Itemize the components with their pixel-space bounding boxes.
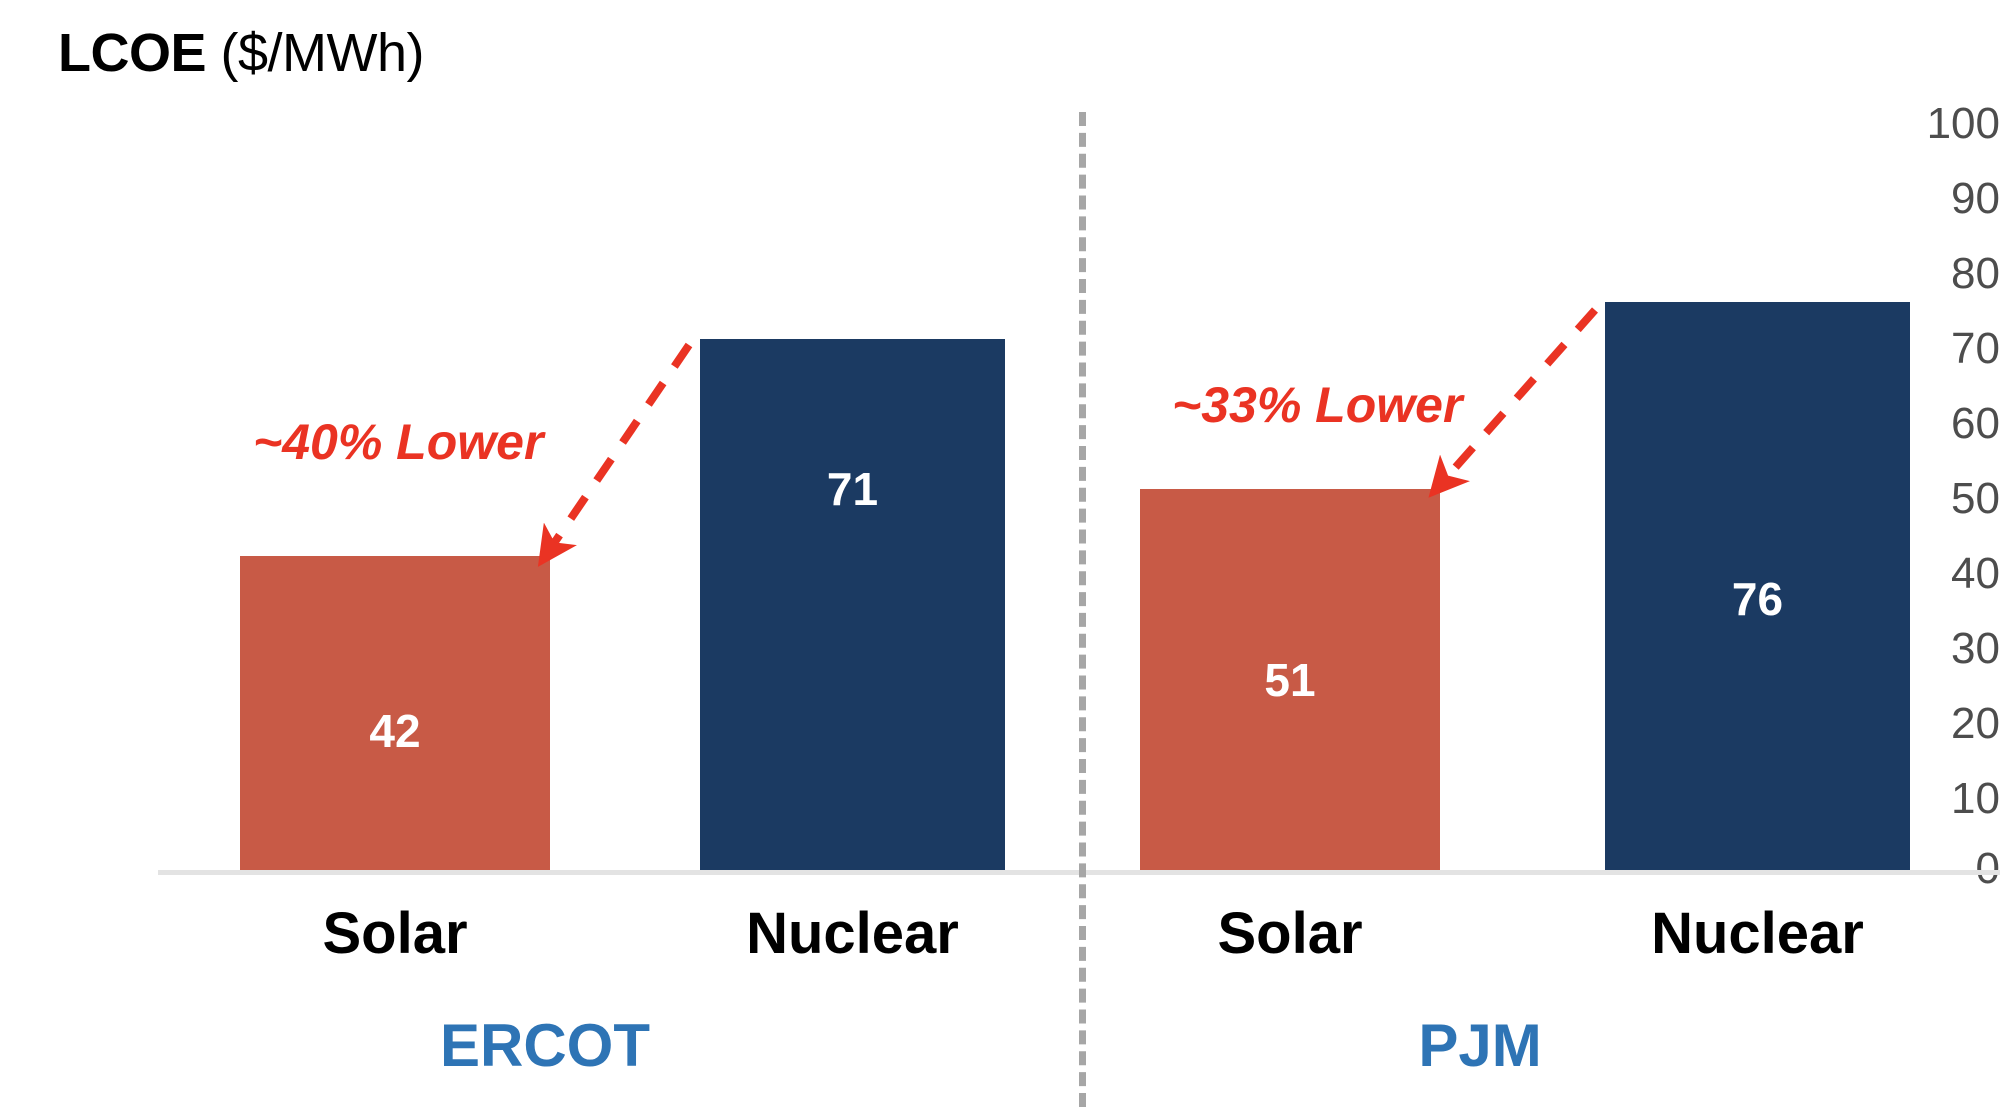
bar-pjm-solar[interactable]: 51: [1140, 489, 1440, 870]
category-label-ercot-solar: Solar: [240, 905, 550, 963]
category-label-ercot-nuclear: Nuclear: [700, 905, 1005, 963]
bar-ercot-solar[interactable]: 42: [240, 556, 550, 870]
arrow-ercot: [546, 345, 689, 555]
group-divider-dashed-line: [1079, 112, 1086, 1107]
bar-ercot-nuclear[interactable]: 71: [700, 339, 1005, 870]
bar-value-pjm-nuclear: 76: [1605, 576, 1910, 622]
chart-canvas: LCOE ($/MWh) 100 90 80 70 60 50 40 30 20…: [0, 0, 2000, 1119]
category-label-pjm-solar: Solar: [1140, 905, 1440, 963]
y-axis-tick-80: 80: [1880, 252, 2000, 296]
annotation-pjm-percent-lower: ~33% Lower: [1172, 380, 1462, 430]
bar-value-ercot-solar: 42: [240, 708, 550, 754]
chart-title-units: ($/MWh): [206, 23, 424, 83]
bar-value-ercot-nuclear: 71: [700, 466, 1005, 512]
bar-value-pjm-solar: 51: [1140, 657, 1440, 703]
category-label-pjm-nuclear: Nuclear: [1605, 905, 1910, 963]
chart-title-bold: LCOE: [58, 23, 206, 83]
group-label-ercot: ERCOT: [330, 1016, 760, 1076]
y-axis-tick-100: 100: [1880, 102, 2000, 146]
group-label-pjm: PJM: [1265, 1016, 1695, 1076]
chart-title: LCOE ($/MWh): [58, 22, 424, 84]
annotation-ercot-percent-lower: ~40% Lower: [253, 417, 543, 467]
y-axis-tick-90: 90: [1880, 177, 2000, 221]
bar-pjm-nuclear[interactable]: 76: [1605, 302, 1910, 870]
